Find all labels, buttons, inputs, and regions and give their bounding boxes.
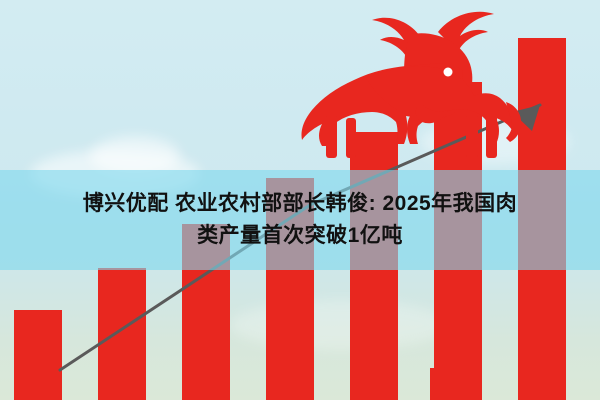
headline-line-2: 类产量首次突破1亿吨 (197, 223, 403, 249)
headline-text: 博兴优配 农业农村部部长韩俊: 2025年我国肉 类产量首次突破1亿吨 (0, 170, 600, 270)
bull-eye-icon (444, 68, 453, 77)
bull-silhouette-icon (270, 6, 530, 166)
promo-banner-image: 博兴优配 农业农村部部长韩俊: 2025年我国肉 类产量首次突破1亿吨 (0, 0, 600, 400)
headline-line-1: 博兴优配 农业农村部部长韩俊: 2025年我国肉 (83, 191, 517, 217)
